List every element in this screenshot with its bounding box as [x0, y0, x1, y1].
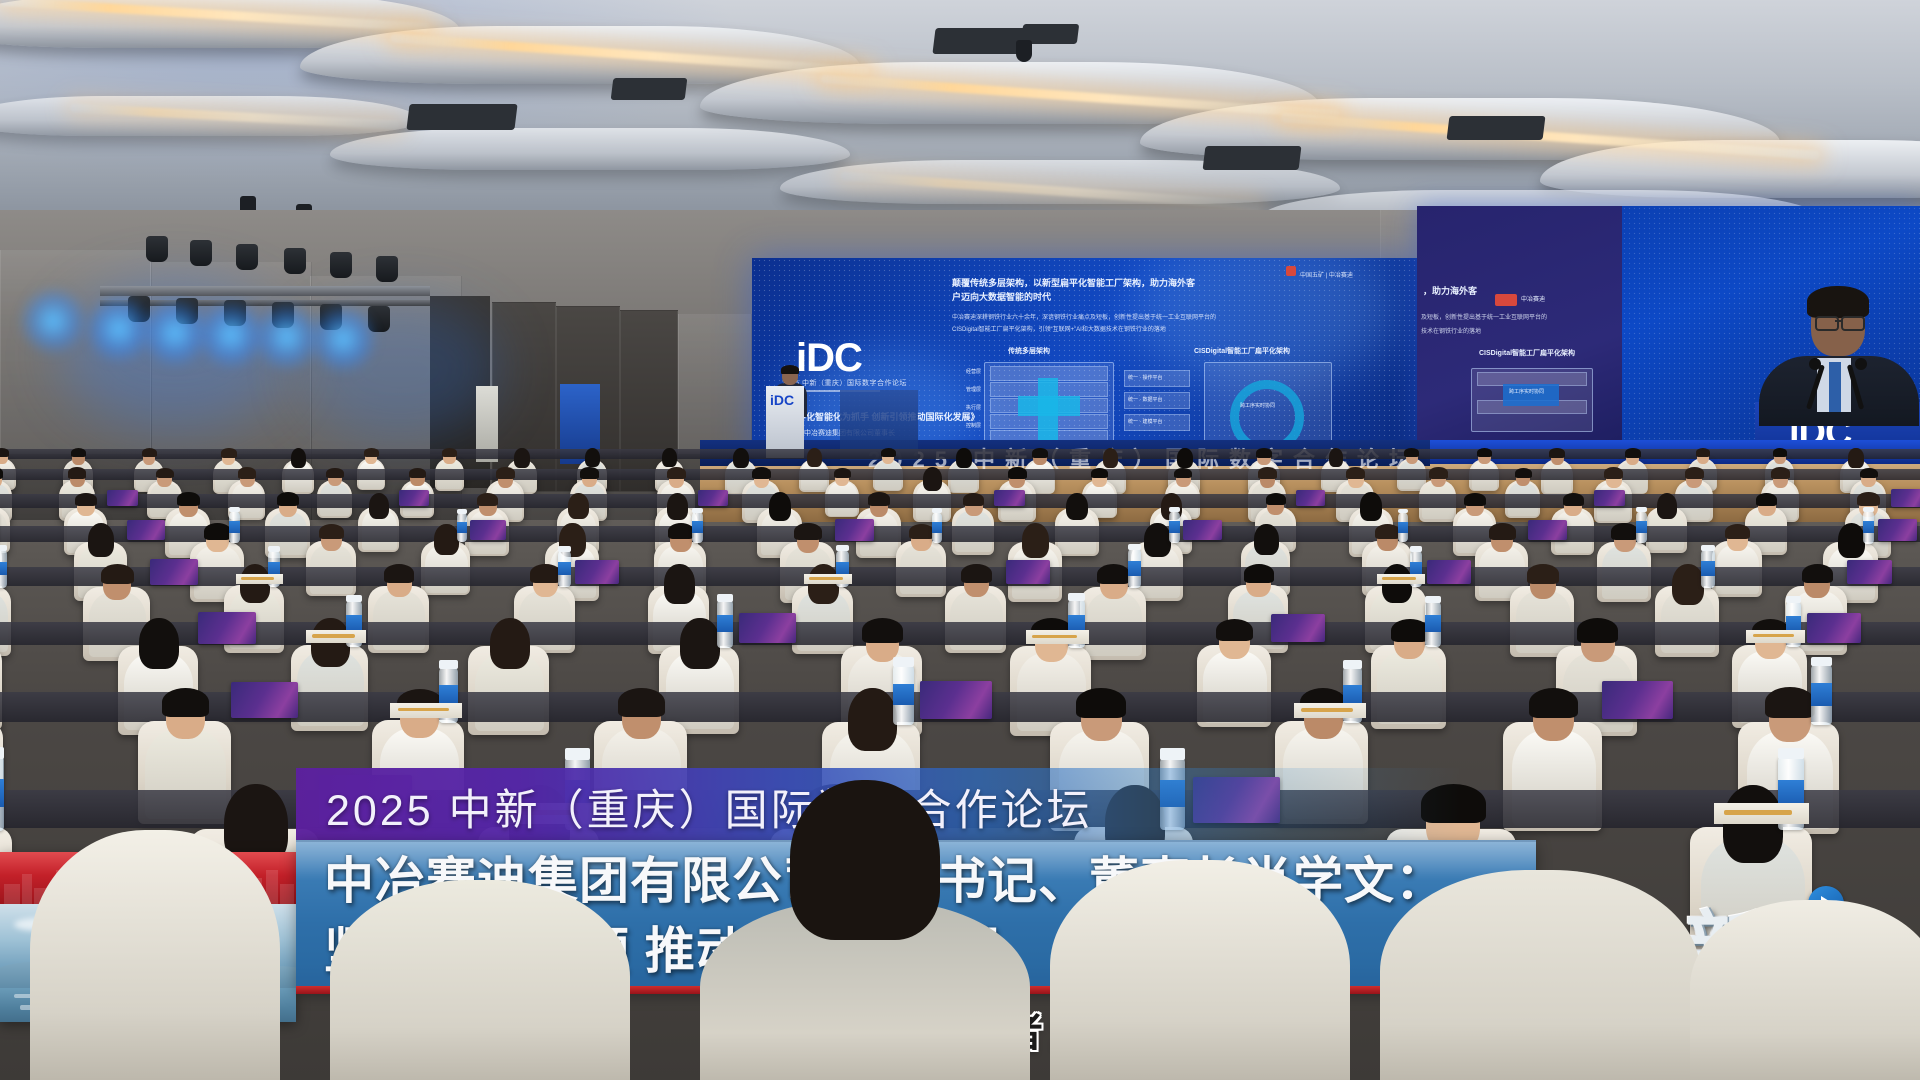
- audience-hair: [769, 492, 791, 521]
- audience-hair: [1360, 492, 1382, 520]
- audience-hair: [1765, 687, 1815, 718]
- audience-hair: [496, 467, 515, 478]
- audience-hair: [1515, 468, 1532, 479]
- desk-nameplate: [231, 682, 298, 718]
- bottle-cap: [932, 508, 942, 513]
- stage-screen-right-body-2: CISDigital智能工厂扁平化架构，引领“互联网+”AI和大数据技术在钢铁行…: [952, 324, 1166, 333]
- audience-hair: [319, 524, 344, 539]
- bottle-cap: [1811, 657, 1832, 667]
- bottle-cap: [229, 507, 240, 512]
- bottle-label: [457, 522, 467, 533]
- audience-hair: [238, 467, 256, 478]
- audience-hair: [1256, 448, 1272, 458]
- audience-hair: [1604, 467, 1623, 479]
- stage-screen-right-heading-2: 户迈向大数据智能的时代: [952, 290, 1051, 303]
- desk-nameplate: [1296, 490, 1325, 506]
- audience-hair: [807, 448, 822, 467]
- audience-hair: [585, 448, 600, 467]
- bottle-cap: [457, 509, 467, 514]
- bottle-cap: [1425, 596, 1441, 603]
- foreground-attendee: [1050, 860, 1350, 1080]
- bottle-label: [0, 779, 4, 806]
- audience-hair: [1848, 448, 1863, 467]
- audience-hair: [1563, 493, 1585, 506]
- desk-pen: [1724, 810, 1792, 815]
- bottle-cap: [1128, 544, 1142, 550]
- desk-nameplate: [1807, 613, 1861, 642]
- audience-hair: [667, 493, 688, 520]
- desk-pen: [1301, 708, 1353, 712]
- audience-hair: [1177, 448, 1193, 468]
- audience-hair: [668, 523, 694, 539]
- audience-hair: [848, 688, 897, 751]
- desk-nameplate: [835, 519, 875, 540]
- audience-hair: [1391, 619, 1429, 642]
- desk-nameplate: [1594, 490, 1625, 507]
- desk-pen: [809, 577, 843, 580]
- audience-hair: [881, 448, 896, 457]
- audience-hair: [1685, 467, 1704, 479]
- audience-hair: [139, 618, 179, 669]
- audience-hair: [204, 523, 231, 539]
- audience-hair: [1477, 448, 1492, 457]
- desk-nameplate: [150, 559, 198, 585]
- audience-hair: [794, 523, 821, 540]
- audience-table: [0, 469, 1920, 480]
- audience-hair: [1022, 523, 1049, 557]
- bottle-label: [1701, 561, 1714, 575]
- audience-hair: [142, 448, 157, 457]
- lectern-brand: iDC: [770, 392, 794, 408]
- desk-nameplate: [399, 490, 428, 506]
- bottle-cap: [836, 545, 849, 551]
- audience-hair: [277, 492, 299, 506]
- desk-nameplate: [1528, 520, 1567, 541]
- desk-pen: [241, 577, 275, 580]
- desk-nameplate: [198, 612, 256, 643]
- audience-hair: [88, 523, 114, 557]
- bottle-cap: [1636, 507, 1647, 512]
- desk-nameplate: [739, 613, 796, 644]
- audience-hair: [956, 448, 972, 468]
- audience-hair: [1244, 564, 1274, 583]
- stage-screen-section-right: CISDigital智能工厂扁平化架构: [1194, 346, 1290, 356]
- audience-hair: [1773, 448, 1787, 457]
- desk-nameplate: [575, 560, 619, 584]
- audience-hair: [1549, 448, 1565, 458]
- audience-hair: [733, 448, 749, 468]
- audience-hair: [1258, 467, 1277, 478]
- audience-hair: [384, 564, 414, 583]
- audience-hair: [1429, 467, 1448, 478]
- bottle-label: [1398, 522, 1408, 533]
- audience-hair: [1657, 493, 1677, 519]
- audience-hair: [101, 564, 134, 584]
- audience-hair: [923, 467, 942, 491]
- bottle-cap: [1343, 660, 1362, 669]
- desk-nameplate: [1006, 560, 1050, 584]
- bottle-cap: [1863, 507, 1874, 512]
- audience-table: [0, 622, 1920, 646]
- audience-hair: [680, 618, 720, 669]
- audience-hair: [1329, 448, 1344, 467]
- bottle-cap: [717, 594, 734, 602]
- desk-nameplate: [920, 681, 991, 719]
- bottle-label: [1425, 615, 1441, 632]
- bottle-cap: [565, 748, 590, 760]
- audience-hair: [1489, 523, 1516, 539]
- audience-hair: [1375, 524, 1400, 539]
- audience-hair: [662, 448, 677, 467]
- bottle-label: [1128, 561, 1142, 576]
- bottle-cap: [893, 657, 914, 667]
- audience-hair: [618, 688, 664, 716]
- desk-nameplate: [1427, 560, 1471, 584]
- audience-hair: [1404, 448, 1419, 457]
- audience-hair: [514, 448, 530, 468]
- stage-speaker-hair: [781, 365, 799, 374]
- bottle-cap: [1701, 545, 1714, 551]
- audience-hair: [1857, 492, 1880, 506]
- audience-hair: [0, 448, 9, 457]
- audience-hair: [434, 524, 459, 555]
- audience-hair: [1008, 467, 1027, 479]
- audience-hair: [1577, 618, 1618, 643]
- audience-hair: [1097, 564, 1130, 584]
- audience-hair: [1266, 493, 1286, 505]
- desk-nameplate: [698, 490, 729, 506]
- stage-screen-section-left: 传统多层架构: [1008, 346, 1050, 356]
- audience-hair: [1625, 448, 1641, 458]
- audience-hair: [291, 448, 307, 468]
- audience-hair: [1802, 564, 1833, 583]
- desk-pen: [1753, 634, 1794, 637]
- audience-hair: [71, 448, 86, 457]
- audience-hair: [834, 468, 851, 478]
- audience-hair: [1725, 524, 1750, 539]
- bottle-label: [893, 684, 914, 706]
- audience-hair: [909, 524, 934, 539]
- audience-hair: [580, 467, 598, 478]
- bottle-cap: [1169, 507, 1180, 512]
- audience-hair: [1144, 523, 1170, 557]
- bottle-cap: [439, 660, 458, 669]
- audience-hair: [409, 468, 426, 479]
- bottle-label: [1636, 521, 1647, 533]
- audience-hair: [1838, 523, 1865, 558]
- audience-hair: [868, 492, 891, 506]
- desk-nameplate: [1271, 614, 1325, 643]
- stage-screen-right-body-1: 中冶赛迪深耕钢铁行业六十余年，深谙钢铁行业痛点及短板，创新性提出基于统一工业互联…: [952, 312, 1216, 321]
- bottle-label: [717, 615, 734, 633]
- audience-table: [0, 567, 1920, 586]
- audience-hair: [177, 492, 199, 506]
- audience-hair: [1527, 564, 1559, 583]
- audience-hair: [1611, 523, 1638, 539]
- bottle-label: [1169, 521, 1180, 533]
- desk-pen: [398, 708, 449, 712]
- audience-hair: [1756, 493, 1777, 506]
- bottle-label: [1863, 521, 1874, 533]
- audience-hair: [1032, 448, 1048, 458]
- bottle-cap: [692, 508, 703, 513]
- bottle-label: [932, 522, 942, 533]
- foreground-attendee-head: [790, 780, 940, 940]
- audience-hair: [963, 493, 984, 506]
- bottle-cap: [346, 595, 362, 602]
- audience-hair: [240, 564, 270, 603]
- audience-hair: [1346, 467, 1365, 478]
- audience-hair: [1091, 468, 1108, 479]
- audience-hair: [808, 564, 839, 603]
- desk-nameplate: [1183, 520, 1221, 541]
- desk-nameplate: [470, 520, 505, 539]
- foreground-attendee: [30, 830, 280, 1080]
- bottle-label: [1811, 683, 1832, 705]
- desk-nameplate: [994, 490, 1025, 507]
- desk-nameplate: [1878, 519, 1917, 540]
- bottle-cap: [1786, 596, 1802, 603]
- broadcast-frame: iDC 2025 中新（重庆）国际数字合作论坛 《以数字化智能化为抓手 创新引领…: [0, 0, 1920, 1080]
- bottle-cap: [558, 546, 571, 552]
- audience-hair: [1216, 619, 1253, 642]
- side-led-screen: ，助力海外客 及短板，创新性提出基于统一工业互联网平台的 技术在钢铁行业的落地 …: [1417, 206, 1920, 467]
- audience-hair: [1076, 688, 1125, 718]
- desk-nameplate: [107, 490, 138, 507]
- event-subtitle-text: 2025 中新（重庆）国际数字合作论坛: [326, 776, 1093, 838]
- bottle-cap: [268, 546, 281, 552]
- audience-hair: [326, 468, 343, 479]
- bottle-label: [692, 521, 703, 533]
- desk-nameplate: [1891, 489, 1920, 507]
- audience-hair: [1529, 688, 1578, 718]
- foreground-attendee: [1690, 900, 1920, 1080]
- audience-hair: [1382, 564, 1413, 603]
- stage-screen-brand: iDC: [796, 336, 862, 381]
- audience-hair: [1066, 493, 1088, 521]
- audience-hair: [1254, 524, 1279, 555]
- foreground-attendee: [1380, 870, 1700, 1080]
- audience-hair: [477, 493, 499, 506]
- audience-hair: [961, 564, 991, 583]
- bottle-label: [558, 562, 571, 576]
- audience-hair: [1860, 468, 1878, 479]
- foreground-attendee: [330, 880, 630, 1080]
- audience-hair: [1464, 493, 1486, 506]
- desk-nameplate: [127, 520, 165, 541]
- desk-pen: [1032, 635, 1077, 638]
- audience-hair: [1696, 448, 1711, 457]
- audience-hair: [75, 493, 97, 506]
- desk-nameplate: [1847, 560, 1892, 584]
- desk-pen: [312, 634, 355, 637]
- audience-hair: [1723, 785, 1784, 863]
- bottle-cap: [0, 545, 7, 551]
- bottle-label: [0, 562, 7, 576]
- bottle-cap: [0, 747, 4, 759]
- desk-pen: [1382, 577, 1416, 580]
- audience-hair: [752, 467, 771, 479]
- audience-hair: [664, 564, 695, 603]
- stage-screen-right-heading-1: 颠覆传统多层架构，以新型扁平化智能工厂架构，助力海外客: [952, 276, 1195, 289]
- audience-hair: [1771, 467, 1790, 478]
- audience-hair: [221, 448, 237, 458]
- bottle-cap: [1398, 509, 1408, 514]
- audience-hair: [862, 618, 902, 643]
- bottle-cap: [1778, 748, 1803, 760]
- audience-hair: [1174, 468, 1192, 479]
- audience-hair: [156, 468, 174, 479]
- audience-hair: [1103, 448, 1119, 468]
- audience-hair: [162, 688, 209, 717]
- audience-hair: [369, 493, 389, 519]
- bottle-label: [229, 521, 240, 533]
- desk-nameplate: [1602, 681, 1673, 719]
- audience-hair: [364, 448, 378, 457]
- audience-hair: [68, 467, 86, 478]
- bottle-cap: [1068, 593, 1085, 601]
- bottle-cap: [1410, 546, 1423, 552]
- audience-hair: [490, 618, 530, 669]
- bottle-cap: [1160, 748, 1185, 760]
- audience-hair: [667, 467, 686, 479]
- audience-hair: [530, 564, 560, 583]
- audience-hair: [568, 493, 589, 520]
- audience-hair: [442, 448, 457, 457]
- audience-hair: [1672, 564, 1704, 605]
